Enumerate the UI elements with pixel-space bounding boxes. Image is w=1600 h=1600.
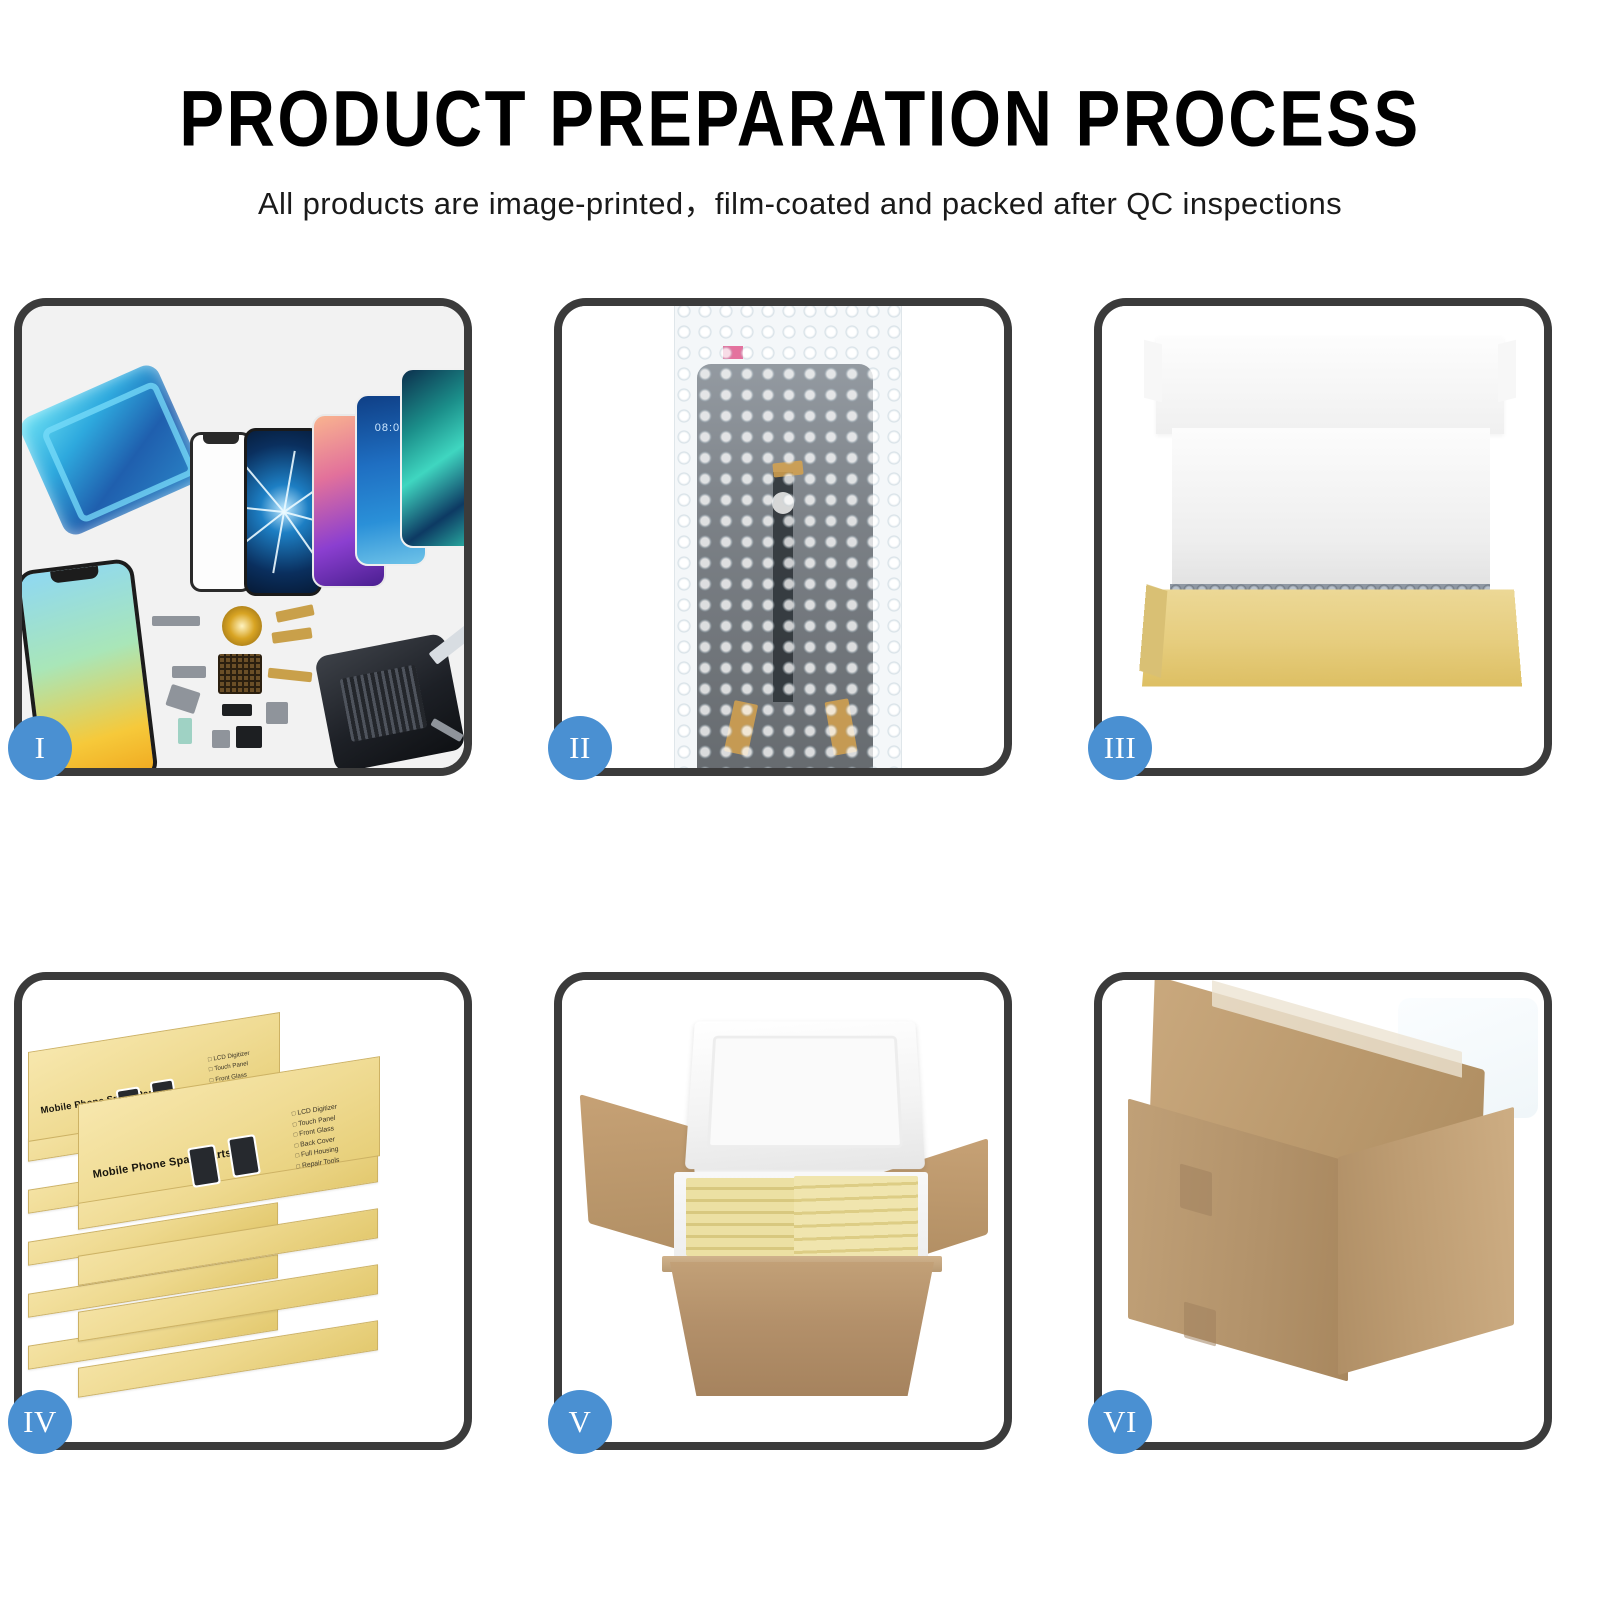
flex-cable-part-a	[275, 604, 314, 623]
open-retail-box-image	[1102, 306, 1544, 768]
bubble-wrap-bag	[674, 306, 902, 768]
page-header: PRODUCT PREPARATION PROCESS All products…	[0, 0, 1600, 223]
box-artwork-phone-front-a	[187, 1144, 221, 1188]
process-step-4[interactable]: Mobile Phone Spare Parts LCD Digitizer T…	[14, 972, 472, 1450]
ic-chip-part	[218, 654, 262, 694]
process-step-3[interactable]: III	[1094, 298, 1552, 776]
sealed-shipping-carton-image	[1102, 980, 1544, 1442]
step-badge-6: VI	[1088, 1390, 1152, 1454]
spare-parts-collage-image: 08:08	[22, 306, 464, 768]
adhesive-frame-part	[22, 361, 206, 539]
bubble-wrapped-lcd-image	[562, 306, 1004, 768]
step-badge-3: III	[1088, 716, 1152, 780]
process-step-6[interactable]: VI	[1094, 972, 1552, 1450]
front-glass-part	[190, 432, 252, 592]
sim-tray-part	[178, 718, 192, 744]
flex-cable-part-b	[271, 627, 312, 643]
box-checklist-front: LCD Digitizer Touch Panel Front Glass Ba…	[292, 1102, 343, 1172]
page-title: PRODUCT PREPARATION PROCESS	[0, 78, 1600, 161]
speaker-mesh-part	[152, 616, 200, 626]
step-badge-5: V	[548, 1390, 612, 1454]
bubble-wrap-texture	[675, 306, 901, 768]
carton-tape-tab-upper	[1180, 1163, 1212, 1216]
teal-gradient-phone	[400, 368, 464, 548]
connector-part-a	[172, 666, 206, 678]
box-foam-liner	[1172, 428, 1490, 588]
process-step-5[interactable]: V	[554, 972, 1012, 1450]
process-step-2[interactable]: II	[554, 298, 1012, 776]
box-artwork-phone-front-b	[227, 1134, 261, 1178]
step-badge-2: II	[548, 716, 612, 780]
box-base-yellow	[1142, 589, 1522, 686]
carton-with-foam-insert-image	[562, 980, 1004, 1442]
retail-boxes-row-right	[794, 1176, 918, 1258]
process-step-grid: 08:08 I	[14, 298, 1589, 1450]
flex-cable-part-c	[268, 668, 313, 683]
process-step-1[interactable]: 08:08 I	[14, 298, 472, 776]
page-subtitle: All products are image-printed，film-coat…	[0, 178, 1600, 223]
vibrator-part	[266, 702, 288, 724]
earpiece-part	[236, 726, 262, 748]
step-badge-1: I	[8, 716, 72, 780]
camera-module-part	[222, 704, 252, 716]
box-stack: Mobile Phone Spare Parts LCD Digitizer T…	[22, 980, 464, 1442]
connector-part-b	[165, 684, 200, 714]
wireless-charging-coil-part	[222, 606, 262, 646]
cracked-screen-phone	[244, 428, 322, 596]
styrofoam-lid	[685, 1021, 926, 1169]
box-lid-open	[1156, 336, 1504, 434]
step-badge-4: IV	[8, 1390, 72, 1454]
stacked-retail-boxes-image: Mobile Phone Spare Parts LCD Digitizer T…	[22, 980, 464, 1442]
screw-set-part	[212, 730, 230, 748]
carton-body	[670, 1262, 934, 1396]
